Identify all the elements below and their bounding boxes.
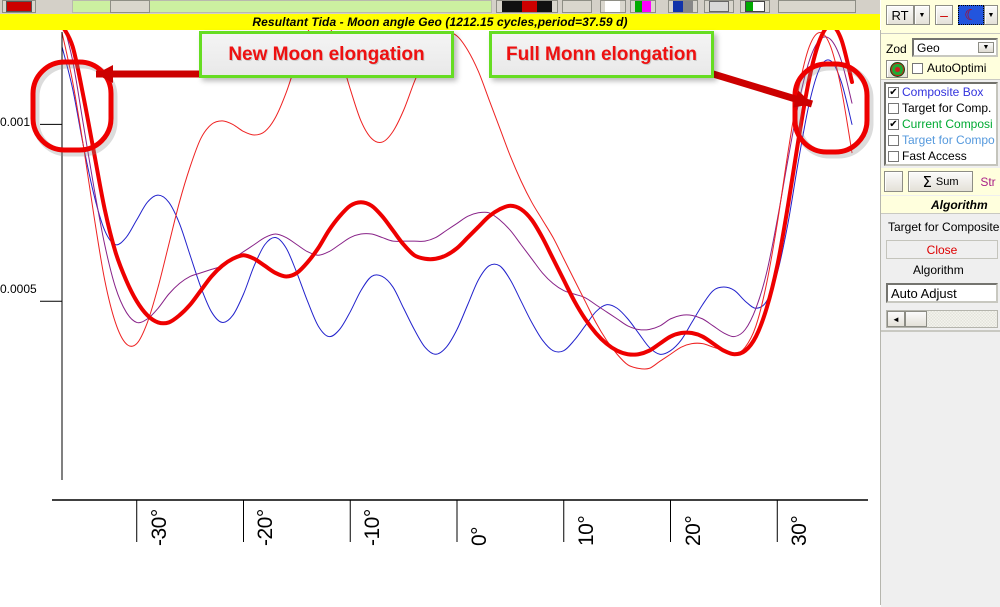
moon-icon[interactable]: ☾ bbox=[958, 5, 984, 25]
x-tick-label-0: -30° bbox=[148, 509, 172, 546]
green-icon bbox=[745, 1, 765, 12]
algorithm-select[interactable]: Auto Adjust bbox=[886, 283, 998, 303]
panel-divider-2 bbox=[881, 79, 1000, 80]
target-for-composite-label: Target for Composite bbox=[888, 220, 999, 234]
algorithm-value: Auto Adjust bbox=[891, 286, 957, 301]
color-swatch-magenta[interactable] bbox=[635, 1, 651, 12]
checkbox-label-composite-box: Composite Box bbox=[902, 85, 983, 99]
autooptimize-checkbox[interactable] bbox=[912, 63, 923, 74]
scrollbar-left-arrow[interactable]: ◄ bbox=[887, 311, 905, 327]
annotation-new-moon: New Moon elongation bbox=[199, 31, 454, 78]
checkbox-target-for-composite[interactable] bbox=[888, 135, 899, 146]
zod-select[interactable]: Geo ▼ bbox=[912, 38, 998, 57]
zod-value: Geo bbox=[917, 41, 940, 55]
zod-label: Zod bbox=[886, 42, 907, 56]
y-tick-label-0: 0.001 bbox=[0, 115, 30, 129]
checkbox-label-current-composite: Current Composi bbox=[902, 117, 993, 131]
x-tick-label-4: 10° bbox=[575, 516, 599, 546]
sum-button-label: Sum bbox=[936, 176, 959, 188]
x-tick-label-5: 20° bbox=[682, 516, 706, 546]
marker-icon bbox=[605, 1, 620, 12]
color-swatch-red[interactable] bbox=[6, 1, 32, 12]
annotation-new-moon-label: New Moon elongation bbox=[228, 44, 424, 66]
checkbox-current-composite[interactable]: ✔ bbox=[888, 119, 899, 130]
chart-plot-area[interactable]: 0.001 0.0005 -30°-20°-10°0°10°20°30° bbox=[0, 30, 881, 605]
application-window: Resultant Tida - Moon angle Geo (1212.15… bbox=[0, 0, 1000, 605]
mode-dropdown-arrow[interactable]: ▼ bbox=[914, 5, 930, 25]
algorithm-section-title: Algorithm bbox=[931, 198, 988, 212]
minus-button[interactable]: – bbox=[935, 5, 953, 25]
checkbox-label-target-for-composite: Target for Compo bbox=[902, 133, 995, 147]
horizontal-scrollbar[interactable]: ◄ bbox=[886, 310, 998, 328]
scrollbar-thumb[interactable] bbox=[905, 311, 927, 327]
sigma-icon: Σ bbox=[922, 173, 931, 191]
bar-icon bbox=[709, 1, 729, 12]
chart-title-bar: Resultant Tida - Moon angle Geo (1212.15… bbox=[0, 14, 880, 30]
body-dropdown-arrow[interactable]: ▼ bbox=[984, 5, 998, 25]
algorithm-label: Algorithm bbox=[913, 263, 964, 277]
top-toolbar bbox=[0, 0, 880, 15]
toolbar-field[interactable] bbox=[778, 0, 856, 13]
checkbox-label-fast-access: Fast Access bbox=[902, 149, 967, 163]
x-tick-label-3: 0° bbox=[468, 527, 492, 546]
page-title: Resultant Tida - Moon angle Geo (1212.15… bbox=[252, 15, 627, 29]
sum-button[interactable]: Σ Sum bbox=[908, 171, 973, 192]
checkbox-composite-box[interactable]: ✔ bbox=[888, 87, 899, 98]
side-panel: RT ▼ – ☾ ▼ Zod Geo ▼ AutoOptimi ✔ Compos… bbox=[881, 0, 1000, 605]
checkbox-target-for-comp[interactable] bbox=[888, 103, 899, 114]
annotation-full-moon-label: Full Monn elongation bbox=[506, 44, 697, 66]
target-icon bbox=[890, 62, 905, 77]
chart-canvas bbox=[0, 30, 880, 605]
checkbox-label-target-for-comp: Target for Comp. bbox=[902, 101, 991, 115]
str-button[interactable]: Str bbox=[976, 171, 1000, 192]
x-tick-label-6: 30° bbox=[788, 516, 812, 546]
toolbar-button-2[interactable] bbox=[110, 0, 150, 13]
x-tick-label-1: -20° bbox=[254, 509, 278, 546]
mode-button-rt[interactable]: RT bbox=[886, 5, 914, 25]
zod-chevron-down-icon[interactable]: ▼ bbox=[978, 42, 994, 53]
chart-icon bbox=[673, 1, 693, 12]
y-tick-label-1: 0.0005 bbox=[0, 282, 37, 296]
autooptimize-label: AutoOptimi bbox=[927, 61, 986, 75]
panel-empty-area bbox=[881, 330, 1000, 607]
x-tick-label-2: -10° bbox=[361, 509, 385, 546]
toolbar-button-3[interactable] bbox=[562, 0, 592, 13]
target-icon-button[interactable] bbox=[886, 60, 908, 78]
annotation-full-moon: Full Monn elongation bbox=[489, 31, 714, 78]
checkbox-fast-access[interactable] bbox=[888, 151, 899, 162]
close-button[interactable]: Close bbox=[886, 240, 998, 259]
sum-extra-button[interactable] bbox=[884, 171, 903, 192]
line-style-preview bbox=[502, 1, 552, 12]
